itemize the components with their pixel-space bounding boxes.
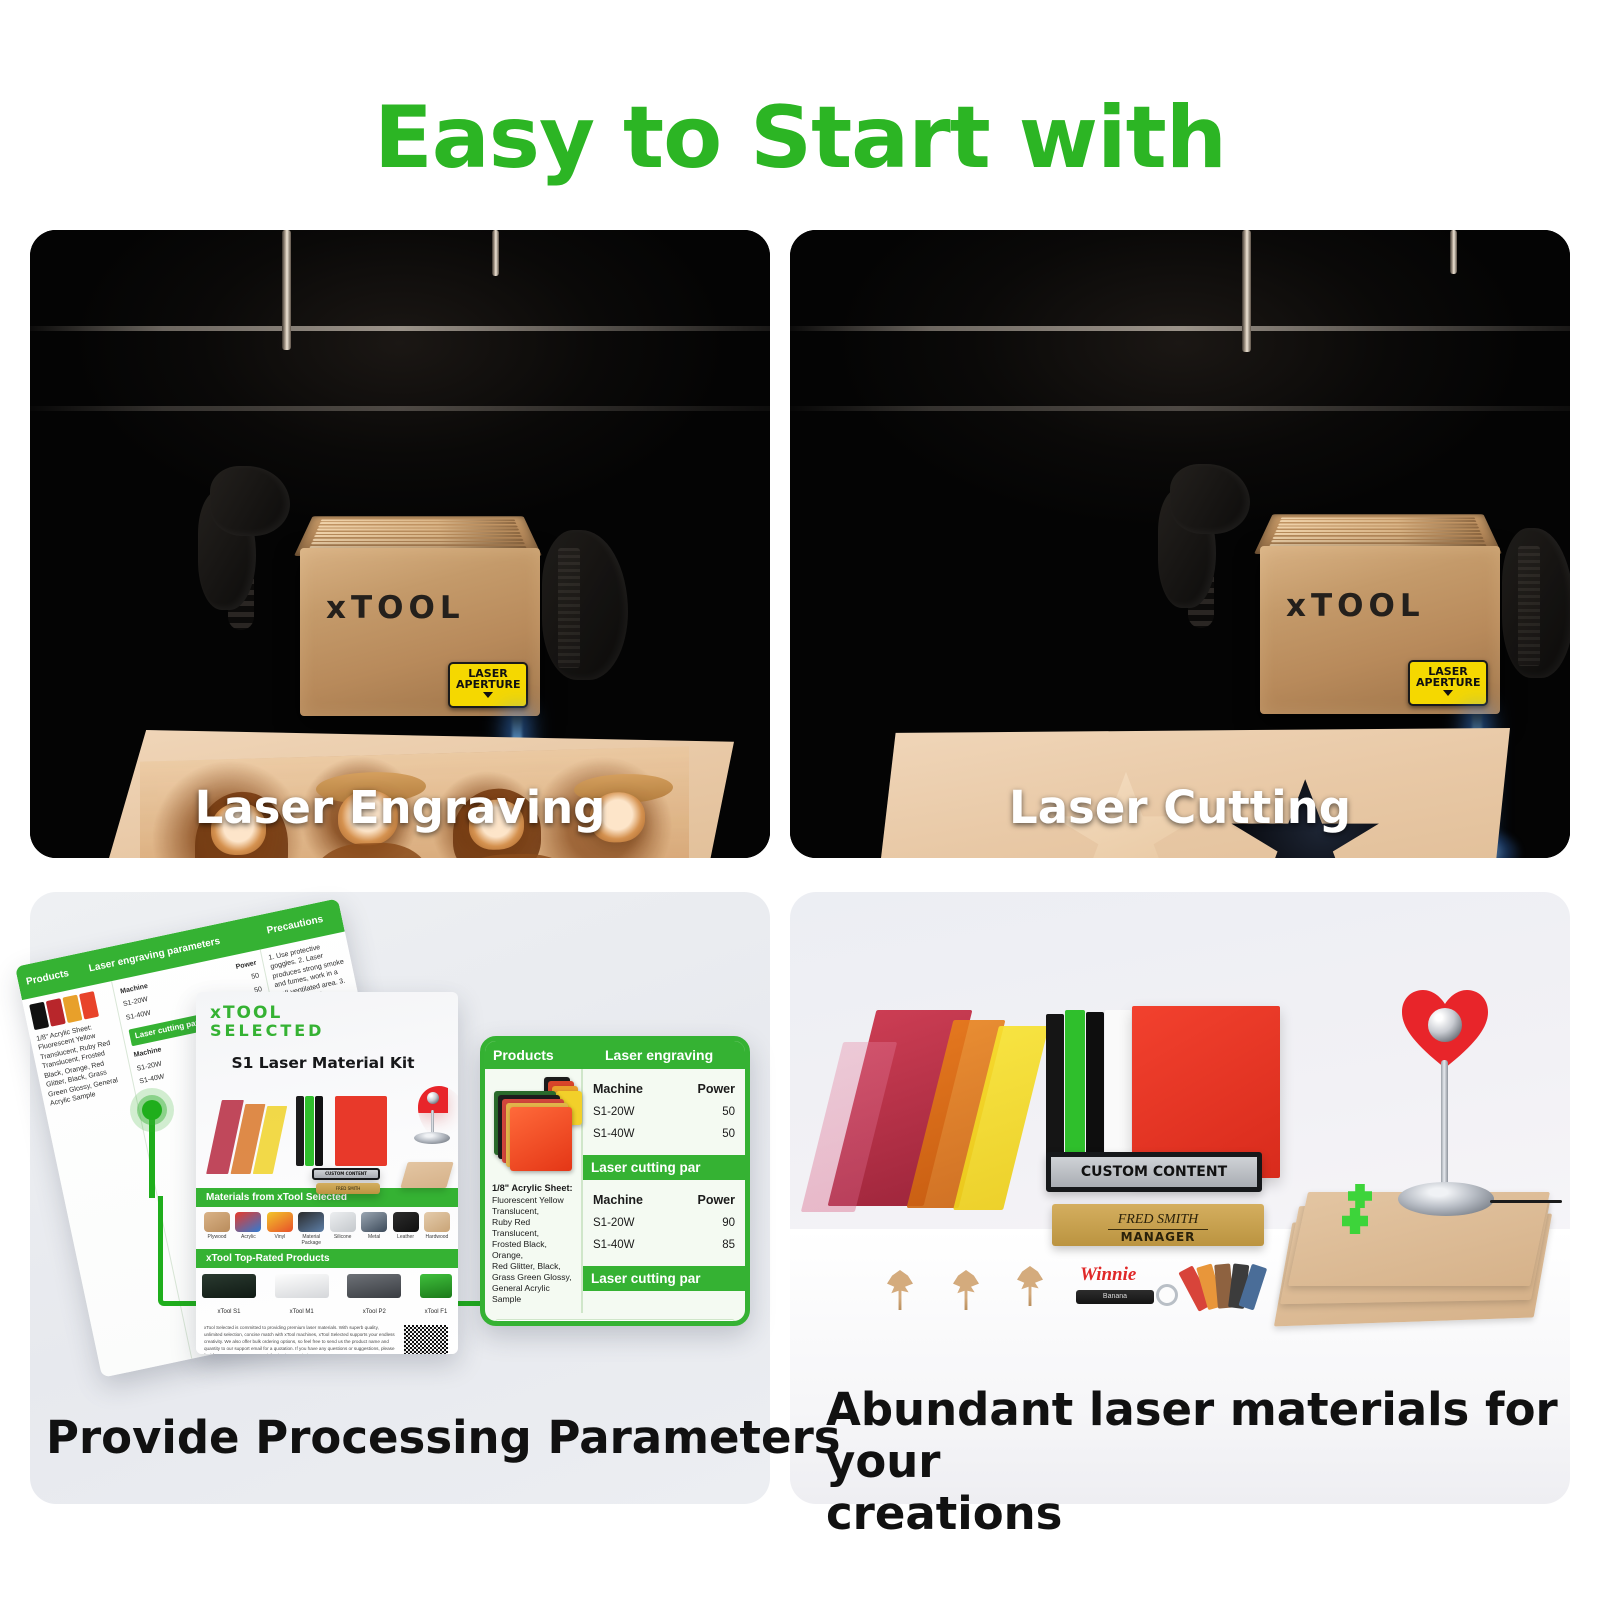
engraving-scene: xTOOL LASER APERTURE — [30, 230, 770, 858]
hdr-machine: Machine — [593, 1082, 677, 1096]
green-card-body: 1/8" Acrylic Sheet: Fluorescent Yellow T… — [485, 1069, 745, 1313]
material-item: Leather — [391, 1212, 421, 1246]
hero-nameplate-dark: CUSTOM CONTENT — [312, 1168, 380, 1180]
green-product-desc: 1/8" Acrylic Sheet: Fluorescent Yellow T… — [492, 1183, 574, 1305]
green-product-title: 1/8" Acrylic Sheet: — [492, 1183, 573, 1193]
kit-title: S1 Laser Material Kit — [196, 1054, 450, 1072]
green-engraving-table: Machine Power S1-20W 50 S1-40W 50 — [583, 1069, 745, 1155]
back-products-note: 1/8" Acrylic Sheet: Fluorescent Yellow T… — [36, 1019, 129, 1109]
green-products-col: 1/8" Acrylic Sheet: Fluorescent Yellow T… — [485, 1069, 583, 1313]
kit-qr-block[interactable]: Scan to activate your exclusive prime VI… — [404, 1325, 450, 1354]
table-row: S1-20W 50 — [593, 1101, 735, 1123]
kit-paragraph: xTool Selected is committed to providing… — [204, 1325, 395, 1354]
table-row: S1-40W 50 — [593, 1123, 735, 1145]
laser-head-body: xTOOL LASER APERTURE — [1260, 546, 1500, 714]
key-ring-icon — [1156, 1284, 1178, 1306]
hero-sheet-black-1 — [296, 1096, 304, 1166]
hero-plywood — [400, 1162, 453, 1188]
kit-products-row: xTool S1 xTool M1 xTool P2 xTool F1 — [196, 1268, 458, 1320]
material-label: Metal — [359, 1234, 389, 1240]
kit-brand-line2: SELECTED — [210, 1021, 324, 1040]
caption-abundant-materials: Abundant laser materials for your creati… — [826, 1384, 1600, 1578]
cell-power: 50 — [251, 972, 261, 983]
xtool-f1-image — [420, 1274, 452, 1298]
cell-machine: S1-40W — [593, 1239, 677, 1251]
material-item: Hardwood — [422, 1212, 452, 1246]
cell-machine: S1-40W — [125, 1009, 152, 1023]
metal-icon — [361, 1212, 387, 1232]
kit-card-hero: xTOOL SELECTED S1 Laser Material Kit CUS… — [196, 992, 458, 1188]
winnie-keychain-tag: Winnie — [1080, 1264, 1136, 1286]
product-item: xTool M1 — [275, 1274, 329, 1318]
kit-footer: xTool Selected is committed to providing… — [196, 1320, 458, 1354]
lamp-chrome-bulb — [1428, 1008, 1462, 1042]
chip-orange-front — [510, 1107, 572, 1171]
cell-power: 90 — [677, 1217, 735, 1229]
cable-bundle-upper — [1170, 464, 1250, 534]
vertical-rod — [282, 230, 291, 350]
table-row: S1-40W 85 — [593, 1234, 735, 1256]
material-label: Vinyl — [265, 1234, 295, 1240]
xtool-s1-image — [202, 1274, 256, 1298]
cell-power: 50 — [677, 1128, 735, 1140]
material-item: Silicone — [328, 1212, 358, 1246]
caption-laser-engraving: Laser Engraving — [30, 781, 770, 834]
nameplate-fred-smith: FRED SMITH MANAGER — [1052, 1204, 1264, 1246]
vinyl-icon — [267, 1212, 293, 1232]
green-product-body: Fluorescent Yellow Translucent, Ruby Red… — [492, 1195, 572, 1304]
product-item: xTool P2 — [347, 1274, 401, 1318]
down-arrow-icon — [1443, 690, 1453, 696]
acrylic-chip-stack — [492, 1075, 574, 1183]
gantry-rail — [790, 326, 1570, 331]
hero-nameplate-gold: FRED SMITH — [316, 1183, 380, 1194]
marketing-infographic: Easy to Start with xTOOL LASER — [0, 0, 1600, 1600]
right-housing — [542, 530, 628, 680]
caption-line-2: creations — [826, 1488, 1600, 1540]
cell-power: 85 — [677, 1239, 735, 1251]
material-label: Acrylic — [233, 1234, 263, 1240]
green-hdr-products: Products — [485, 1041, 597, 1069]
material-label: Material Package — [296, 1234, 326, 1246]
hdr-power: Power — [677, 1082, 735, 1096]
gantry-rail-secondary — [30, 406, 770, 411]
nameplate-custom-content: CUSTOM CONTENT — [1046, 1152, 1262, 1192]
right-housing — [1502, 528, 1570, 678]
caption-provide-parameters: Provide Processing Parameters — [46, 1412, 841, 1572]
plywood-icon — [204, 1212, 230, 1232]
kit-brand-line1: xTOOL — [210, 1003, 282, 1023]
aperture-line-2: APERTURE — [1416, 676, 1481, 689]
kit-paragraph-block: xTool Selected is committed to providing… — [204, 1325, 398, 1354]
aperture-line-2: APERTURE — [456, 678, 521, 691]
material-label: Silicone — [328, 1234, 358, 1240]
hardwood-icon — [424, 1212, 450, 1232]
xtool-p2-image — [347, 1274, 401, 1298]
product-label: xTool F1 — [425, 1309, 448, 1315]
back-header-products: Products — [17, 965, 82, 989]
pin-dot — [142, 1100, 162, 1120]
hero-lamp-base — [414, 1132, 450, 1144]
gantry-rail — [30, 326, 770, 331]
material-label: Leather — [391, 1234, 421, 1240]
kit-hero-scene: CUSTOM CONTENT FRED SMITH — [204, 1088, 450, 1184]
material-package-icon — [298, 1212, 324, 1232]
green-band-cutting-2: Laser cutting par — [583, 1266, 745, 1291]
table-header-row: Machine Power — [593, 1077, 735, 1101]
green-cutting-table: Machine Power S1-20W 90 S1-40W 85 — [583, 1180, 745, 1266]
table-header-row: Machine Power — [593, 1188, 735, 1212]
product-item: xTool F1 — [420, 1274, 452, 1318]
figure-body-2 — [310, 841, 431, 858]
caption-laser-cutting: Laser Cutting — [790, 781, 1570, 834]
page-title: Easy to Start with — [0, 88, 1600, 188]
material-item: Acrylic — [233, 1212, 263, 1246]
vent-slots — [308, 519, 528, 551]
material-item: Plywood — [202, 1212, 232, 1246]
cutting-scene: xTOOL LASER APERTURE — [790, 230, 1570, 858]
product-label: xTool P2 — [363, 1309, 386, 1315]
material-label: Hardwood — [422, 1234, 452, 1240]
xtool-logo: xTOOL — [326, 590, 465, 626]
vent-slots — [1268, 517, 1488, 549]
leather-icon — [393, 1212, 419, 1232]
table-row: S1-20W 90 — [593, 1212, 735, 1234]
product-item: xTool S1 — [202, 1274, 256, 1318]
green-card-header: Products Laser engraving — [485, 1041, 745, 1069]
product-label: xTool M1 — [290, 1309, 314, 1315]
nameplate-name: FRED SMITH — [1108, 1212, 1209, 1230]
panel-laser-cutting: xTOOL LASER APERTURE Laser Cutting — [790, 230, 1570, 858]
hdr-machine: Machine — [593, 1193, 677, 1207]
lamp-chrome-base — [1398, 1182, 1494, 1216]
green-blank-field — [495, 1319, 735, 1326]
gantry-rail-secondary — [790, 406, 1570, 411]
banana-keychain: Banana — [1076, 1290, 1154, 1304]
laser-aperture-label: LASER APERTURE — [1408, 660, 1488, 706]
material-item: Material Package — [296, 1212, 326, 1246]
vertical-rod-2 — [492, 230, 499, 276]
xtool-logo: xTOOL — [1286, 588, 1425, 624]
acrylic-icon — [235, 1212, 261, 1232]
vertical-rod-2 — [1450, 230, 1457, 274]
lamp-power-cord — [1490, 1200, 1562, 1203]
laser-head-body: xTOOL LASER APERTURE — [300, 548, 540, 716]
nameplate-role: MANAGER — [1052, 1230, 1264, 1244]
green-band-cutting-1: Laser cutting par — [583, 1155, 745, 1180]
product-label: xTool S1 — [217, 1309, 240, 1315]
cell-machine: S1-40W — [593, 1128, 677, 1140]
cell-machine: S1-20W — [593, 1217, 677, 1229]
kit-materials-row: Plywood Acrylic Vinyl Material Package S… — [196, 1207, 458, 1249]
kit-brand: xTOOL SELECTED — [210, 1004, 444, 1041]
green-hdr-engraving: Laser engraving — [597, 1041, 721, 1069]
silicone-icon — [330, 1212, 356, 1232]
lamp-pole — [1441, 1060, 1448, 1196]
hdr-power: Power — [677, 1193, 735, 1207]
kit-products-band: xTool Top-Rated Products — [196, 1249, 458, 1268]
hero-sheet-black-2 — [315, 1096, 323, 1166]
material-item: Vinyl — [265, 1212, 295, 1246]
down-arrow-icon — [483, 692, 493, 698]
vertical-rod — [1242, 230, 1251, 352]
qr-code-icon[interactable] — [404, 1325, 448, 1354]
material-label: Plywood — [202, 1234, 232, 1240]
hero-lamp-bulb — [427, 1092, 439, 1104]
hero-sheet-white — [324, 1096, 334, 1166]
back-header-precautions: Precautions — [258, 910, 342, 938]
green-params-col: Machine Power S1-20W 50 S1-40W 50 Laser … — [583, 1069, 745, 1313]
parameters-card-zoom: Products Laser engraving 1/8" Acrylic Sh… — [480, 1036, 750, 1326]
material-kit-card: xTOOL SELECTED S1 Laser Material Kit CUS… — [196, 992, 458, 1354]
laser-aperture-label: LASER APERTURE — [448, 662, 528, 708]
cell-machine: S1-40W — [139, 1072, 166, 1086]
xtool-m1-image — [275, 1274, 329, 1298]
hero-sheet-green — [305, 1096, 314, 1166]
cable-bundle-upper — [210, 466, 290, 536]
material-item: Metal — [359, 1212, 389, 1246]
cell-machine: S1-20W — [593, 1106, 677, 1118]
caption-line-1: Abundant laser materials for your — [826, 1384, 1600, 1488]
hero-sheet-red — [335, 1096, 387, 1166]
panel-laser-engraving: xTOOL LASER APERTURE — [30, 230, 770, 858]
cell-power: 50 — [677, 1106, 735, 1118]
